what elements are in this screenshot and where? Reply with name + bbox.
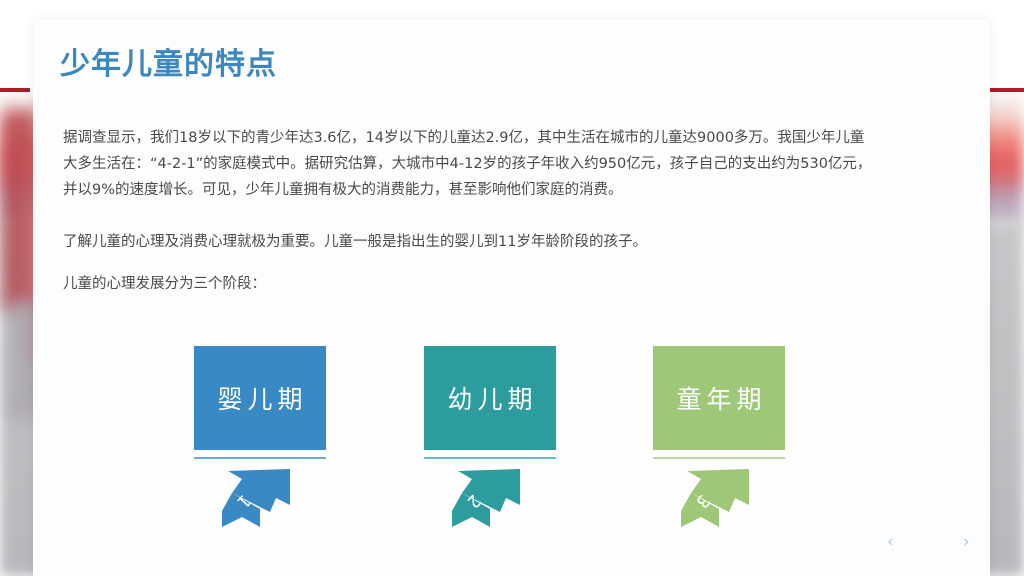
stage-arrow-1: 1 bbox=[194, 465, 326, 527]
stage-box-1[interactable]: 婴儿期 bbox=[194, 346, 326, 450]
stage-item-2[interactable]: 幼儿期 2 bbox=[424, 346, 556, 527]
stage-item-1[interactable]: 婴儿期 1 bbox=[194, 346, 326, 527]
page-title: 少年儿童的特点 bbox=[60, 39, 277, 83]
bent-arrow-icon bbox=[212, 465, 308, 527]
content-card: 少年儿童的特点 据调查显示，我们18岁以下的青少年达3.6亿，14岁以下的儿童达… bbox=[33, 20, 990, 576]
paragraph-1: 据调查显示，我们18岁以下的青少年达3.6亿，14岁以下的儿童达2.9亿，其中生… bbox=[63, 125, 873, 203]
stage-label-2: 幼儿期 bbox=[442, 380, 537, 416]
red-rule-left bbox=[0, 88, 30, 92]
slide-viewer: 少年儿童的特点 据调查显示，我们18岁以下的青少年达3.6亿，14岁以下的儿童达… bbox=[0, 0, 1024, 576]
stage-underline-3 bbox=[653, 457, 785, 459]
stage-arrow-3: 3 bbox=[653, 465, 785, 527]
stage-box-2[interactable]: 幼儿期 bbox=[424, 346, 556, 450]
previous-slide-icon[interactable]: ‹ bbox=[887, 532, 894, 552]
stage-label-3: 童年期 bbox=[671, 380, 766, 416]
next-slide-icon[interactable]: › bbox=[963, 532, 970, 552]
stage-diagram: 婴儿期 1 幼儿期 bbox=[33, 346, 990, 546]
stage-arrow-2: 2 bbox=[424, 465, 556, 527]
bent-arrow-icon bbox=[671, 465, 767, 527]
bent-arrow-icon bbox=[442, 465, 538, 527]
body-copy: 据调查显示，我们18岁以下的青少年达3.6亿，14岁以下的儿童达2.9亿，其中生… bbox=[63, 125, 873, 297]
stage-underline-2 bbox=[424, 457, 556, 459]
stage-label-1: 婴儿期 bbox=[212, 380, 307, 416]
stage-underline-1 bbox=[194, 457, 326, 459]
red-rule-right bbox=[990, 88, 1024, 92]
stage-item-3[interactable]: 童年期 3 bbox=[653, 346, 785, 527]
paragraph-3: 儿童的心理发展分为三个阶段： bbox=[63, 271, 873, 297]
paragraph-2: 了解儿童的心理及消费心理就极为重要。儿童一般是指出生的婴儿到11岁年龄阶段的孩子… bbox=[63, 229, 873, 255]
stage-box-3[interactable]: 童年期 bbox=[653, 346, 785, 450]
